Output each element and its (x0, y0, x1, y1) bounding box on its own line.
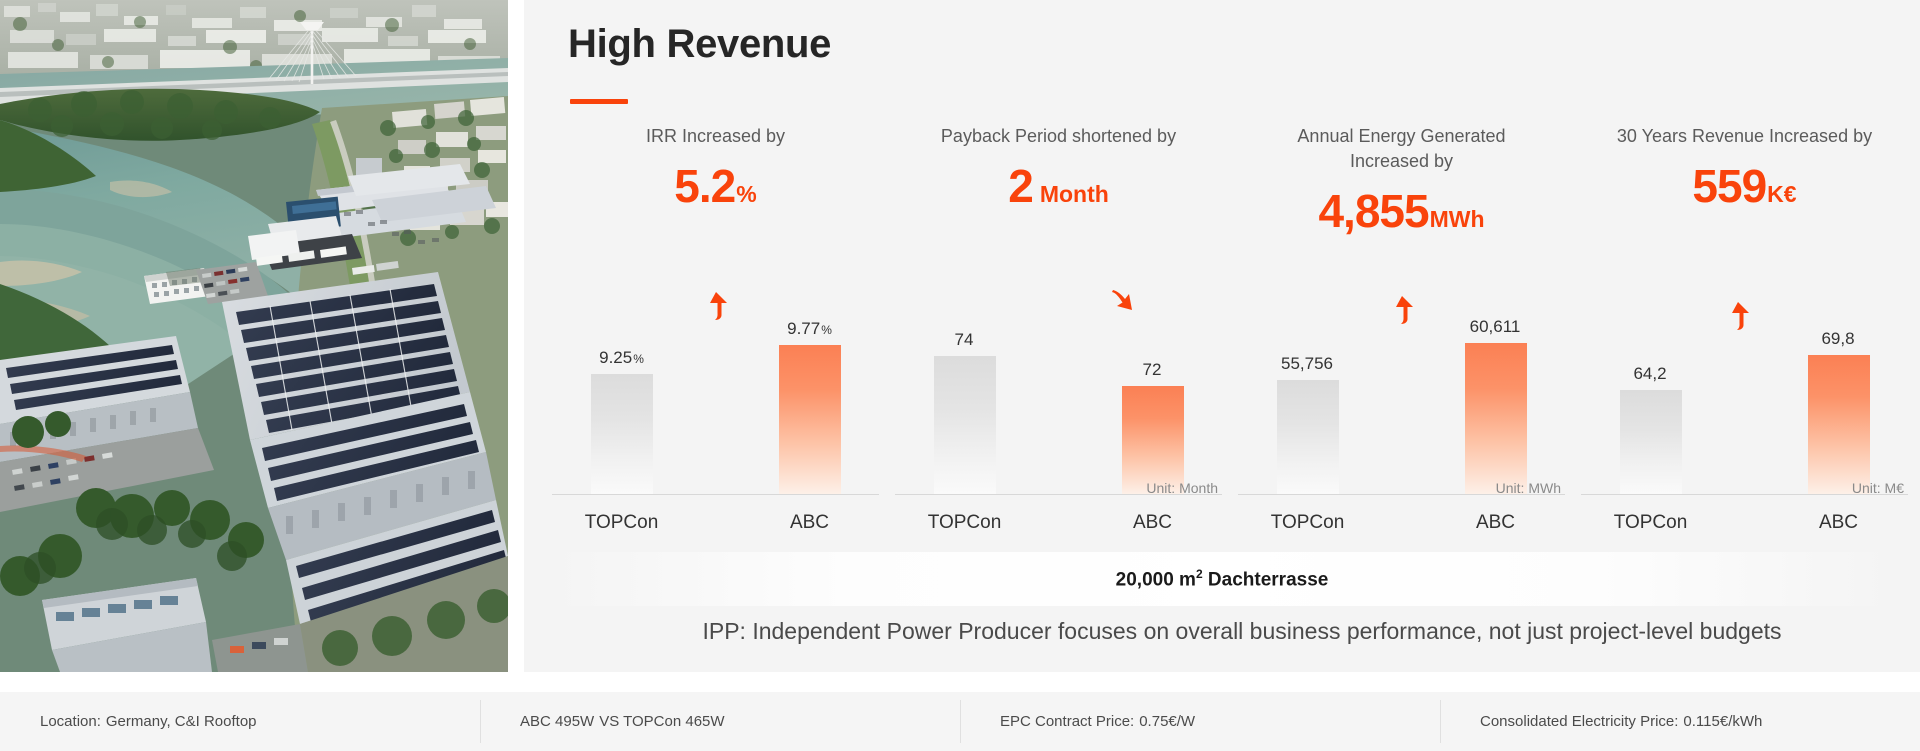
arrow-up-icon (701, 290, 731, 322)
area-suffix: Dachterrasse (1203, 569, 1329, 590)
footer-epc-label: EPC Contract Price: (1000, 713, 1134, 730)
metric-caption: 30 Years Revenue Increased by (1617, 124, 1872, 149)
chart-unit-note: Unit: Month (1146, 480, 1218, 496)
chart-plot: 64,2 69,8 (1573, 284, 1916, 494)
footer-product-value: VS TOPCon 465W (599, 713, 724, 730)
metric-chart: 9.25% 9.77% TOPCon (544, 284, 887, 539)
ipp-note-text: IPP: Independent Power Producer focuses … (662, 618, 1781, 645)
bar-topcon: 64,2 (1620, 390, 1682, 494)
arrow-up-icon (1723, 300, 1753, 332)
metric-delta-unit: MWh (1430, 208, 1485, 231)
metric-delta: 4,855 MWh (1318, 188, 1484, 234)
revenue-panel: High Revenue IRR Increased by 5.2 % (524, 0, 1920, 672)
metric-delta: 559 K€ (1692, 163, 1796, 209)
bar-value-abc: 69,8 (1821, 329, 1855, 349)
metric-irr: IRR Increased by 5.2 % 9.25% (544, 124, 887, 539)
bar-abc: 72 (1122, 386, 1184, 494)
chart-plot: 55,756 60,611 (1230, 284, 1573, 494)
footer-cell-location: Location:Germany, C&I Rooftop (0, 692, 480, 751)
bar-topcon: 74 (934, 356, 996, 494)
xlabel-topcon: TOPCon (585, 512, 659, 534)
ipp-note: IPP: Independent Power Producer focuses … (524, 618, 1920, 645)
bar-value-abc: 9.77% (787, 319, 832, 339)
bar-value-topcon: 74 (955, 330, 975, 350)
footer-bar: Location:Germany, C&I Rooftop ABC 495WVS… (0, 692, 1920, 751)
footer-electricity-label: Consolidated Electricity Price: (1480, 713, 1678, 730)
title-accent-rule (570, 99, 628, 104)
footer-product-label: ABC 495W (520, 713, 594, 730)
area-value: 20,000 m (1116, 569, 1196, 590)
chart-unit-note: Unit: M€ (1852, 480, 1904, 496)
xlabel-topcon: TOPCon (1271, 512, 1345, 534)
xlabel-abc: ABC (790, 512, 829, 534)
bar-abc: 69,8 (1808, 355, 1870, 494)
metric-chart: 64,2 69,8 Unit: M€ TOPCon (1573, 284, 1916, 539)
footer-location-text: Location:Germany, C&I Rooftop (40, 713, 257, 730)
xlabel-topcon: TOPCon (1614, 512, 1688, 534)
metric-caption: Payback Period shortened by (941, 124, 1176, 149)
bar-value-topcon: 64,2 (1633, 364, 1667, 384)
metric-30y-revenue: 30 Years Revenue Increased by 559 K€ 64,… (1573, 124, 1916, 539)
xlabel-abc: ABC (1819, 512, 1858, 534)
footer-location-label: Location: (40, 713, 101, 730)
chart-unit-note: Unit: MWh (1496, 480, 1561, 496)
footer-location-value: Germany, C&I Rooftop (106, 713, 257, 730)
metric-chart: 74 72 Unit: Month TOPCon (887, 284, 1230, 539)
metric-delta-value: 5.2 (674, 163, 735, 209)
bar-value-abc: 60,611 (1470, 317, 1522, 337)
metric-delta: 2 Month (1008, 163, 1109, 209)
metrics-row: IRR Increased by 5.2 % 9.25% (544, 124, 1916, 539)
footer-electricity-text: Consolidated Electricity Price:0.115€/kW… (1480, 713, 1762, 730)
metric-delta-value: 559 (1692, 163, 1766, 209)
metric-annual-energy: Annual Energy Generated Increased by 4,8… (1230, 124, 1573, 539)
metric-delta-value: 4,855 (1318, 188, 1428, 234)
bar-value-topcon: 55,756 (1281, 354, 1334, 374)
bar-value-topcon: 9.25% (599, 348, 644, 368)
area-band: 20,000 m2 Dachterrasse (548, 552, 1896, 606)
bar-value-abc: 72 (1143, 360, 1163, 380)
footer-electricity-value: 0.115€/kWh (1683, 713, 1762, 730)
footer-epc-value: 0.75€/W (1139, 713, 1195, 730)
bar-topcon: 9.25% (591, 374, 653, 494)
metric-delta: 5.2 % (674, 163, 756, 209)
footer-cell-product: ABC 495WVS TOPCon 465W (480, 692, 960, 751)
xlabel-abc: ABC (1476, 512, 1515, 534)
metric-caption: Annual Energy Generated Increased by (1272, 124, 1532, 174)
metric-delta-unit: Month (1040, 183, 1109, 206)
metric-chart: 55,756 60,611 Unit: MWh TOP (1230, 284, 1573, 539)
metric-caption: IRR Increased by (646, 124, 785, 149)
chart-plot: 9.25% 9.77% (544, 284, 887, 494)
bar-topcon: 55,756 (1277, 380, 1339, 494)
slide-root: High Revenue IRR Increased by 5.2 % (0, 0, 1920, 751)
xlabel-topcon: TOPCon (928, 512, 1002, 534)
bar-abc: 9.77% (779, 345, 841, 494)
metric-delta-unit: K€ (1767, 183, 1796, 206)
footer-cell-epc-price: EPC Contract Price:0.75€/W (960, 692, 1440, 751)
chart-baseline (552, 494, 879, 495)
xlabel-abc: ABC (1133, 512, 1172, 534)
footer-cell-electricity-price: Consolidated Electricity Price:0.115€/kW… (1440, 692, 1920, 751)
site-aerial-photo (0, 0, 508, 672)
arrow-up-icon (1387, 294, 1417, 326)
metric-delta-value: 2 (1008, 163, 1033, 209)
arrow-down-icon (1107, 286, 1137, 318)
chart-plot: 74 72 (887, 284, 1230, 494)
page-title: High Revenue (568, 22, 831, 67)
area-superscript: 2 (1196, 567, 1203, 581)
area-label: 20,000 m2 Dachterrasse (1116, 567, 1329, 591)
aerial-photo-graphic (0, 0, 508, 672)
metric-payback: Payback Period shortened by 2 Month 74 (887, 124, 1230, 539)
bar-abc: 60,611 (1465, 343, 1527, 494)
metric-delta-unit: % (736, 183, 756, 206)
footer-product-text: ABC 495WVS TOPCon 465W (520, 713, 725, 730)
footer-epc-text: EPC Contract Price:0.75€/W (1000, 713, 1195, 730)
